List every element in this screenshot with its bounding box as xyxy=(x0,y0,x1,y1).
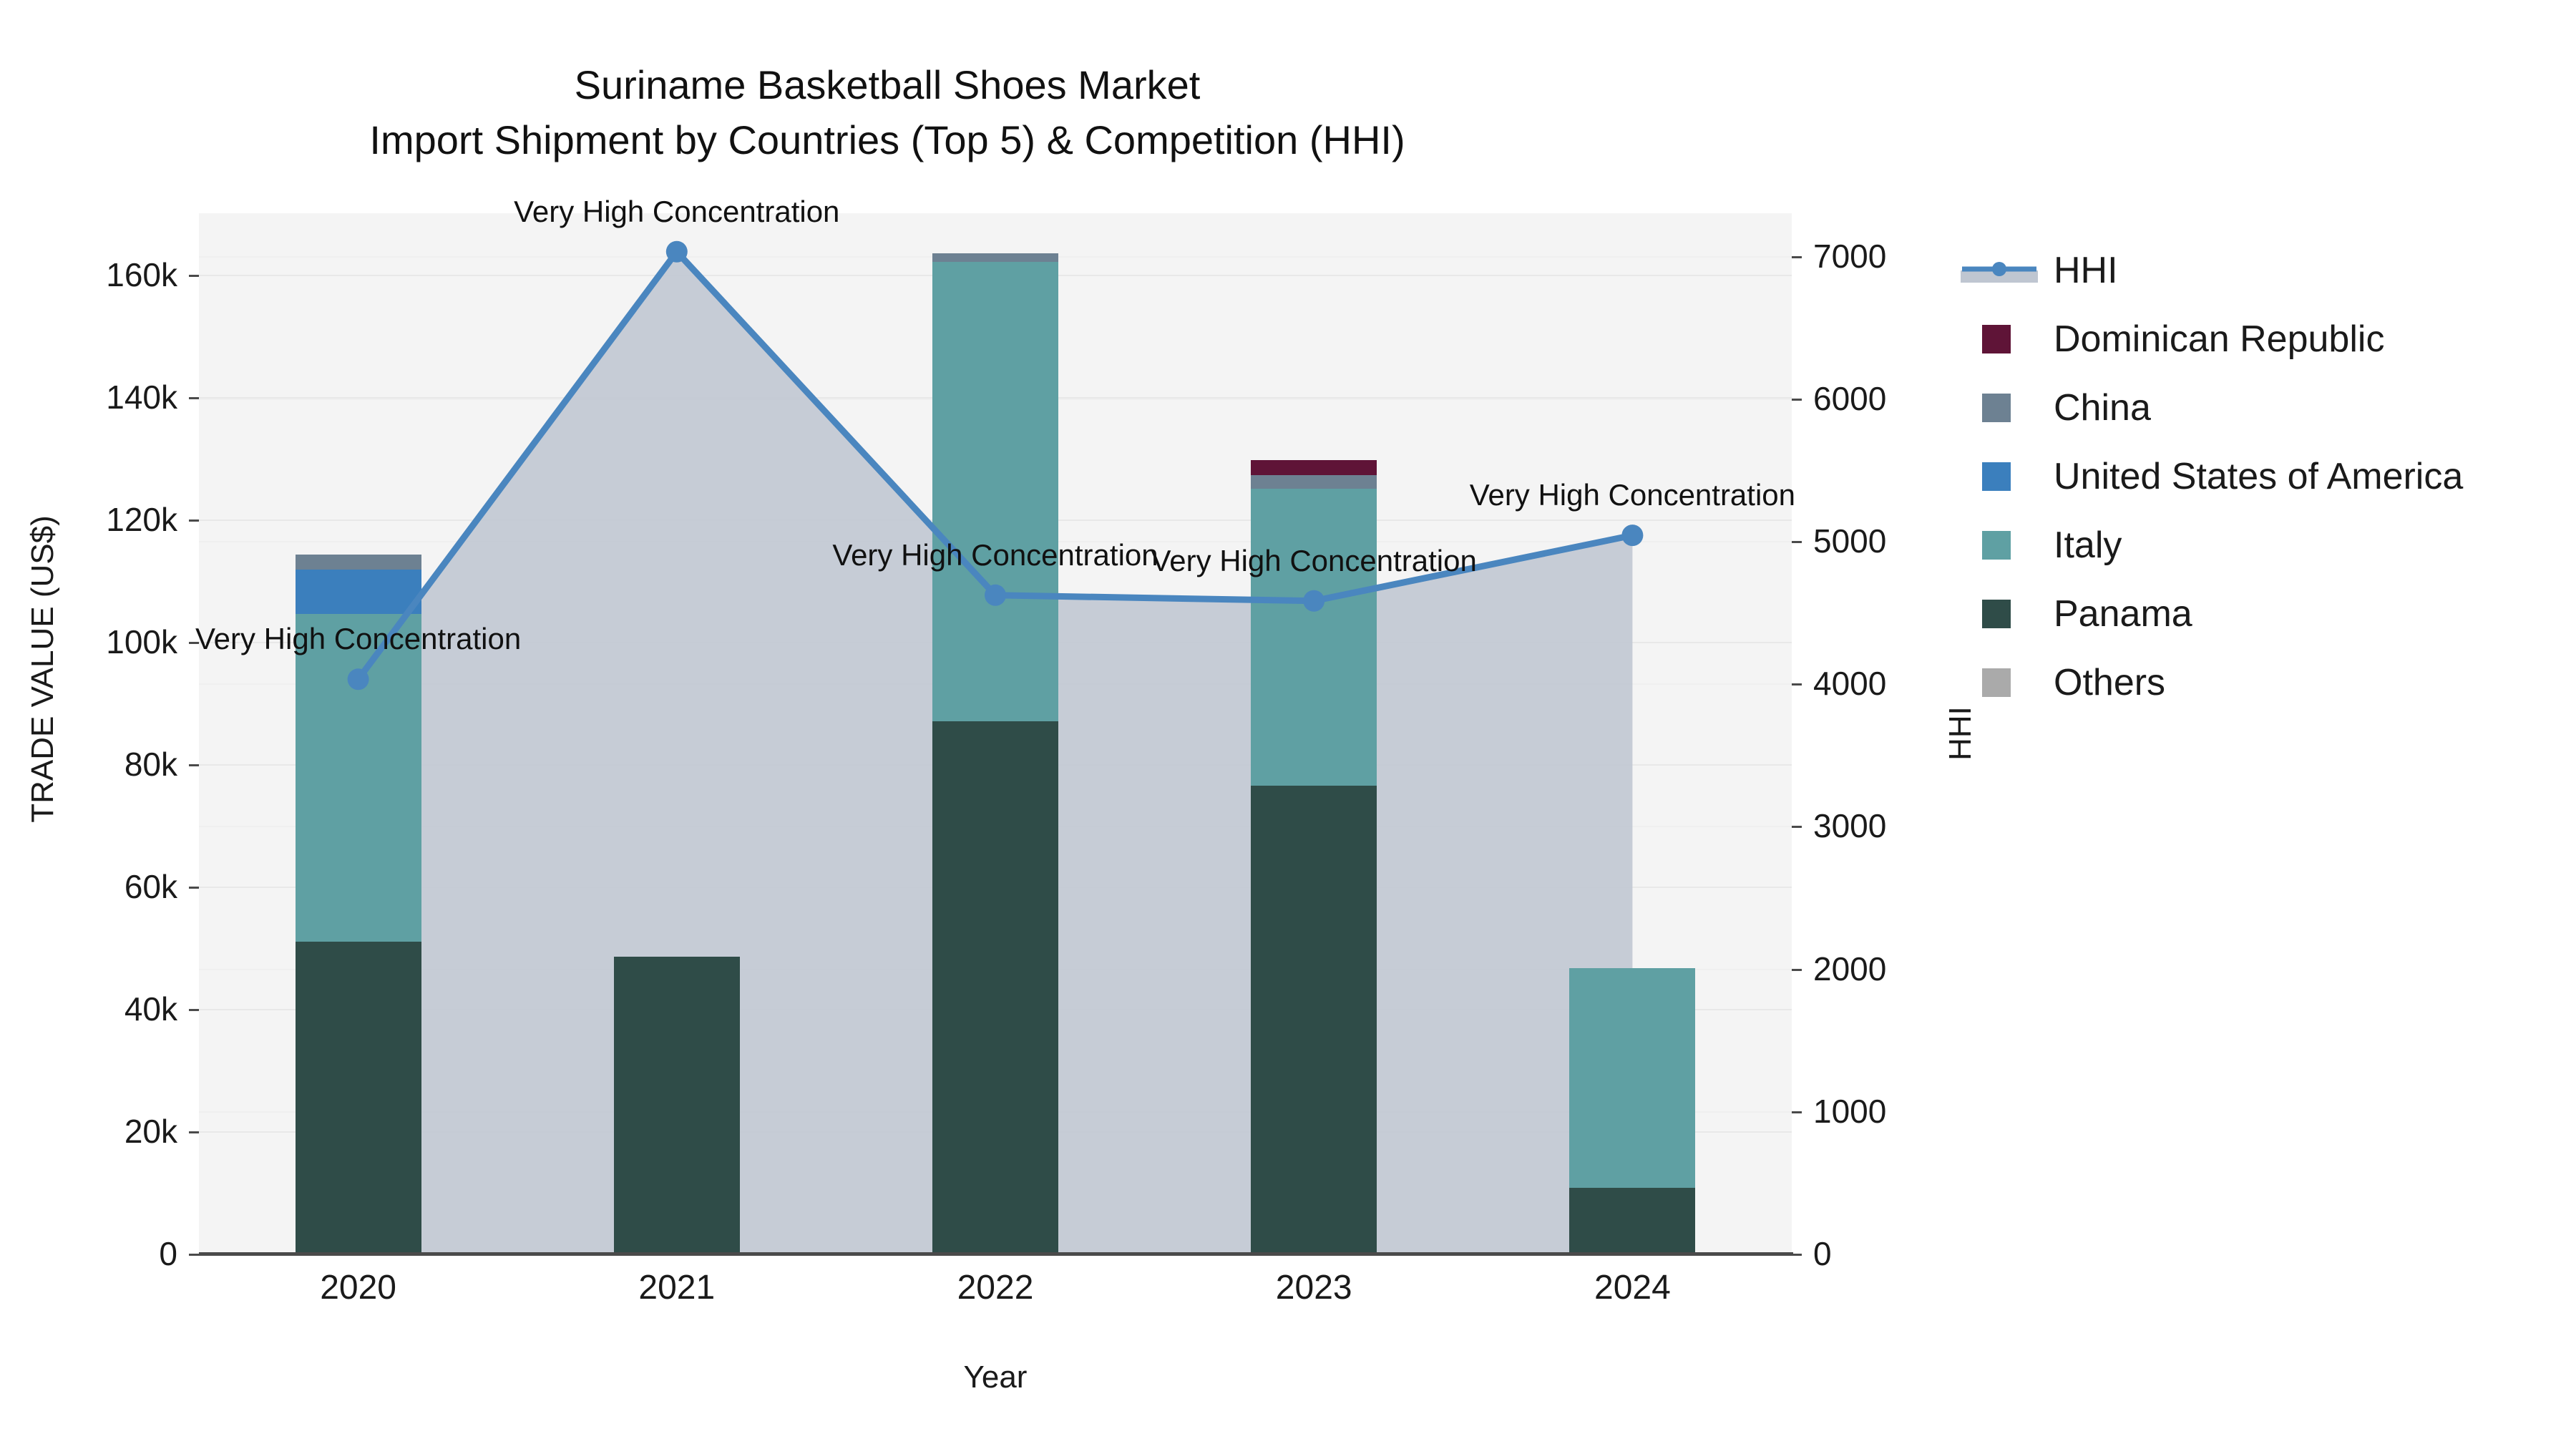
chart-title: Suriname Basketball Shoes Market xyxy=(0,57,1775,112)
legend-item-panama[interactable]: Panama xyxy=(1961,580,2562,648)
y-axis-secondary-tick-mark xyxy=(1792,1111,1802,1113)
legend-item-china[interactable]: China xyxy=(1961,374,2562,442)
x-axis-title: Year xyxy=(199,1360,1792,1395)
chart-subtitle: Import Shipment by Countries (Top 5) & C… xyxy=(0,112,1775,167)
bar-segment-italy[interactable] xyxy=(1251,489,1377,786)
legend-swatch-icon xyxy=(1961,600,2038,628)
y-axis-tick-mark xyxy=(189,1131,199,1133)
y-axis-secondary-tick-mark xyxy=(1792,256,1802,258)
y-axis-tick-label: 140k xyxy=(21,378,177,416)
y-axis-tick-label: 0 xyxy=(21,1234,177,1273)
legend-swatch-icon xyxy=(1961,394,2038,422)
bar-segment-china[interactable] xyxy=(932,253,1058,262)
bar-segment-dominican-republic[interactable] xyxy=(1251,460,1377,475)
legend-item-united-states-of-america[interactable]: United States of America xyxy=(1961,442,2562,511)
y-axis-tick-mark xyxy=(189,1009,199,1011)
chart-title-block: Suriname Basketball Shoes Market Import … xyxy=(0,57,1775,168)
annotation-concentration-2023: Very High Concentration xyxy=(1151,544,1477,578)
plot-area xyxy=(199,213,1792,1254)
legend-swatch-icon xyxy=(1961,531,2038,560)
bar-segment-panama[interactable] xyxy=(614,957,740,1254)
y-axis-secondary-tick-mark xyxy=(1792,683,1802,686)
legend-color-swatch xyxy=(1982,600,2011,628)
legend-item-hhi[interactable]: HHI xyxy=(1961,236,2562,305)
legend-item-label: HHI xyxy=(2054,249,2118,292)
y-axis-tick-mark xyxy=(189,519,199,522)
y-axis-tick-mark xyxy=(189,764,199,766)
y-axis-secondary-tick-label: 2000 xyxy=(1813,950,1978,988)
y-axis-secondary-tick-mark xyxy=(1792,399,1802,401)
bar-segment-china[interactable] xyxy=(1251,475,1377,489)
x-axis-tick-label-2020: 2020 xyxy=(251,1268,466,1307)
chart-root: Suriname Basketball Shoes Market Import … xyxy=(0,0,2576,1449)
x-axis-tick-label-2022: 2022 xyxy=(888,1268,1103,1307)
annotation-concentration-2024: Very High Concentration xyxy=(1470,478,1795,512)
legend-swatch-icon xyxy=(1961,325,2038,353)
x-axis-tick-label-2021: 2021 xyxy=(570,1268,784,1307)
y-axis-title: TRADE VALUE (US$) xyxy=(25,447,61,891)
legend-item-label: Dominican Republic xyxy=(2054,318,2384,361)
annotation-concentration-2022: Very High Concentration xyxy=(832,538,1158,572)
legend-color-swatch xyxy=(1982,462,2011,491)
bar-segment-panama[interactable] xyxy=(1251,786,1377,1254)
y-axis-secondary-tick-mark xyxy=(1792,969,1802,971)
x-axis-spine xyxy=(199,1252,1793,1256)
y-axis-secondary-tick-mark xyxy=(1792,826,1802,828)
y-axis-tick-mark xyxy=(189,397,199,399)
legend-item-dominican-republic[interactable]: Dominican Republic xyxy=(1961,305,2562,374)
y-axis-tick-mark xyxy=(189,1254,199,1256)
bar-segment-united-states-of-america[interactable] xyxy=(296,570,421,614)
legend: HHIDominican RepublicChinaUnited States … xyxy=(1961,236,2562,717)
y-axis-secondary-tick-label: 1000 xyxy=(1813,1092,1978,1131)
legend-item-label: Panama xyxy=(2054,592,2192,635)
legend-item-italy[interactable]: Italy xyxy=(1961,511,2562,580)
y-axis-spine xyxy=(197,213,200,1255)
legend-color-swatch xyxy=(1982,325,2011,353)
legend-item-label: United States of America xyxy=(2054,455,2463,498)
y-axis-secondary-tick-mark xyxy=(1792,1254,1802,1256)
bar-segment-panama[interactable] xyxy=(932,721,1058,1254)
y-axis-tick-label: 40k xyxy=(21,990,177,1028)
legend-item-label: China xyxy=(2054,386,2151,429)
bar-segment-italy[interactable] xyxy=(1569,968,1695,1187)
y-axis-tick-label: 160k xyxy=(21,255,177,294)
y-axis-secondary-tick-label: 7000 xyxy=(1813,237,1978,275)
x-axis-tick-label-2024: 2024 xyxy=(1525,1268,1740,1307)
legend-color-swatch xyxy=(1982,668,2011,697)
legend-item-label: Italy xyxy=(2054,524,2122,567)
legend-swatch-icon xyxy=(1961,668,2038,697)
y-axis-secondary-tick-label: 5000 xyxy=(1813,522,1978,560)
y-axis-tick-label: 20k xyxy=(21,1112,177,1151)
legend-line-marker-icon xyxy=(1961,256,2038,285)
bar-segment-italy[interactable] xyxy=(296,614,421,942)
y-axis-tick-mark xyxy=(189,275,199,277)
x-axis-tick-label-2023: 2023 xyxy=(1206,1268,1421,1307)
bar-segment-china[interactable] xyxy=(296,555,421,570)
bar-segment-italy[interactable] xyxy=(932,262,1058,721)
y-axis-secondary-tick-mark xyxy=(1792,541,1802,543)
bar-segment-panama[interactable] xyxy=(1569,1188,1695,1254)
legend-color-swatch xyxy=(1982,394,2011,422)
y-axis-secondary-tick-label: 0 xyxy=(1813,1234,1978,1273)
annotation-concentration-2021: Very High Concentration xyxy=(514,195,839,229)
legend-item-others[interactable]: Others xyxy=(1961,648,2562,717)
y-axis-tick-mark xyxy=(189,887,199,889)
legend-item-label: Others xyxy=(2054,661,2165,704)
legend-color-swatch xyxy=(1982,531,2011,560)
y-axis-secondary-tick-label: 6000 xyxy=(1813,379,1978,418)
annotation-concentration-2020: Very High Concentration xyxy=(195,622,521,656)
bar-segment-panama[interactable] xyxy=(296,942,421,1254)
legend-swatch-icon xyxy=(1961,462,2038,491)
